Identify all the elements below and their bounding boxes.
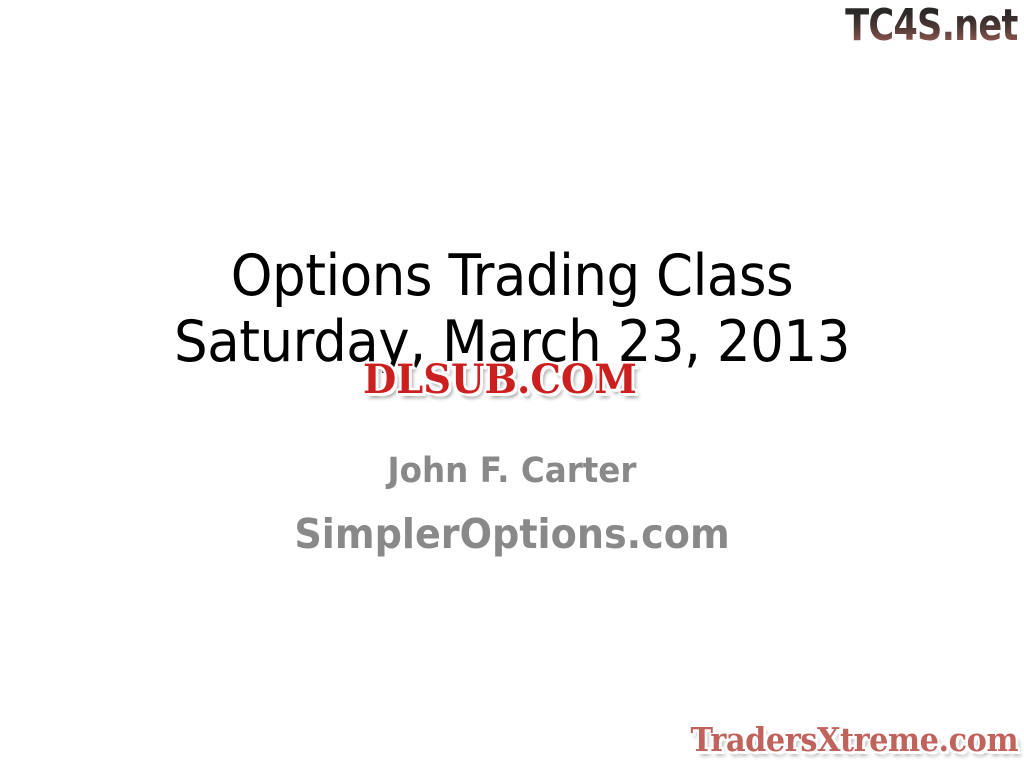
dlsub-watermark: DLSUB.COM [363, 357, 637, 403]
tc4s-logo: TC4S.net [846, 2, 1018, 50]
tradersxtreme-logo: TradersXtreme.com [690, 720, 1018, 760]
presentation-slide: TC4S.net Options Trading Class Saturday,… [0, 0, 1024, 768]
title-line-1: Options Trading Class [36, 243, 988, 309]
slide-subtitle: John F. Carter SimplerOptions.com [0, 440, 1024, 566]
presenter-name: John F. Carter [36, 440, 988, 502]
presenter-website: SimplerOptions.com [36, 502, 988, 566]
